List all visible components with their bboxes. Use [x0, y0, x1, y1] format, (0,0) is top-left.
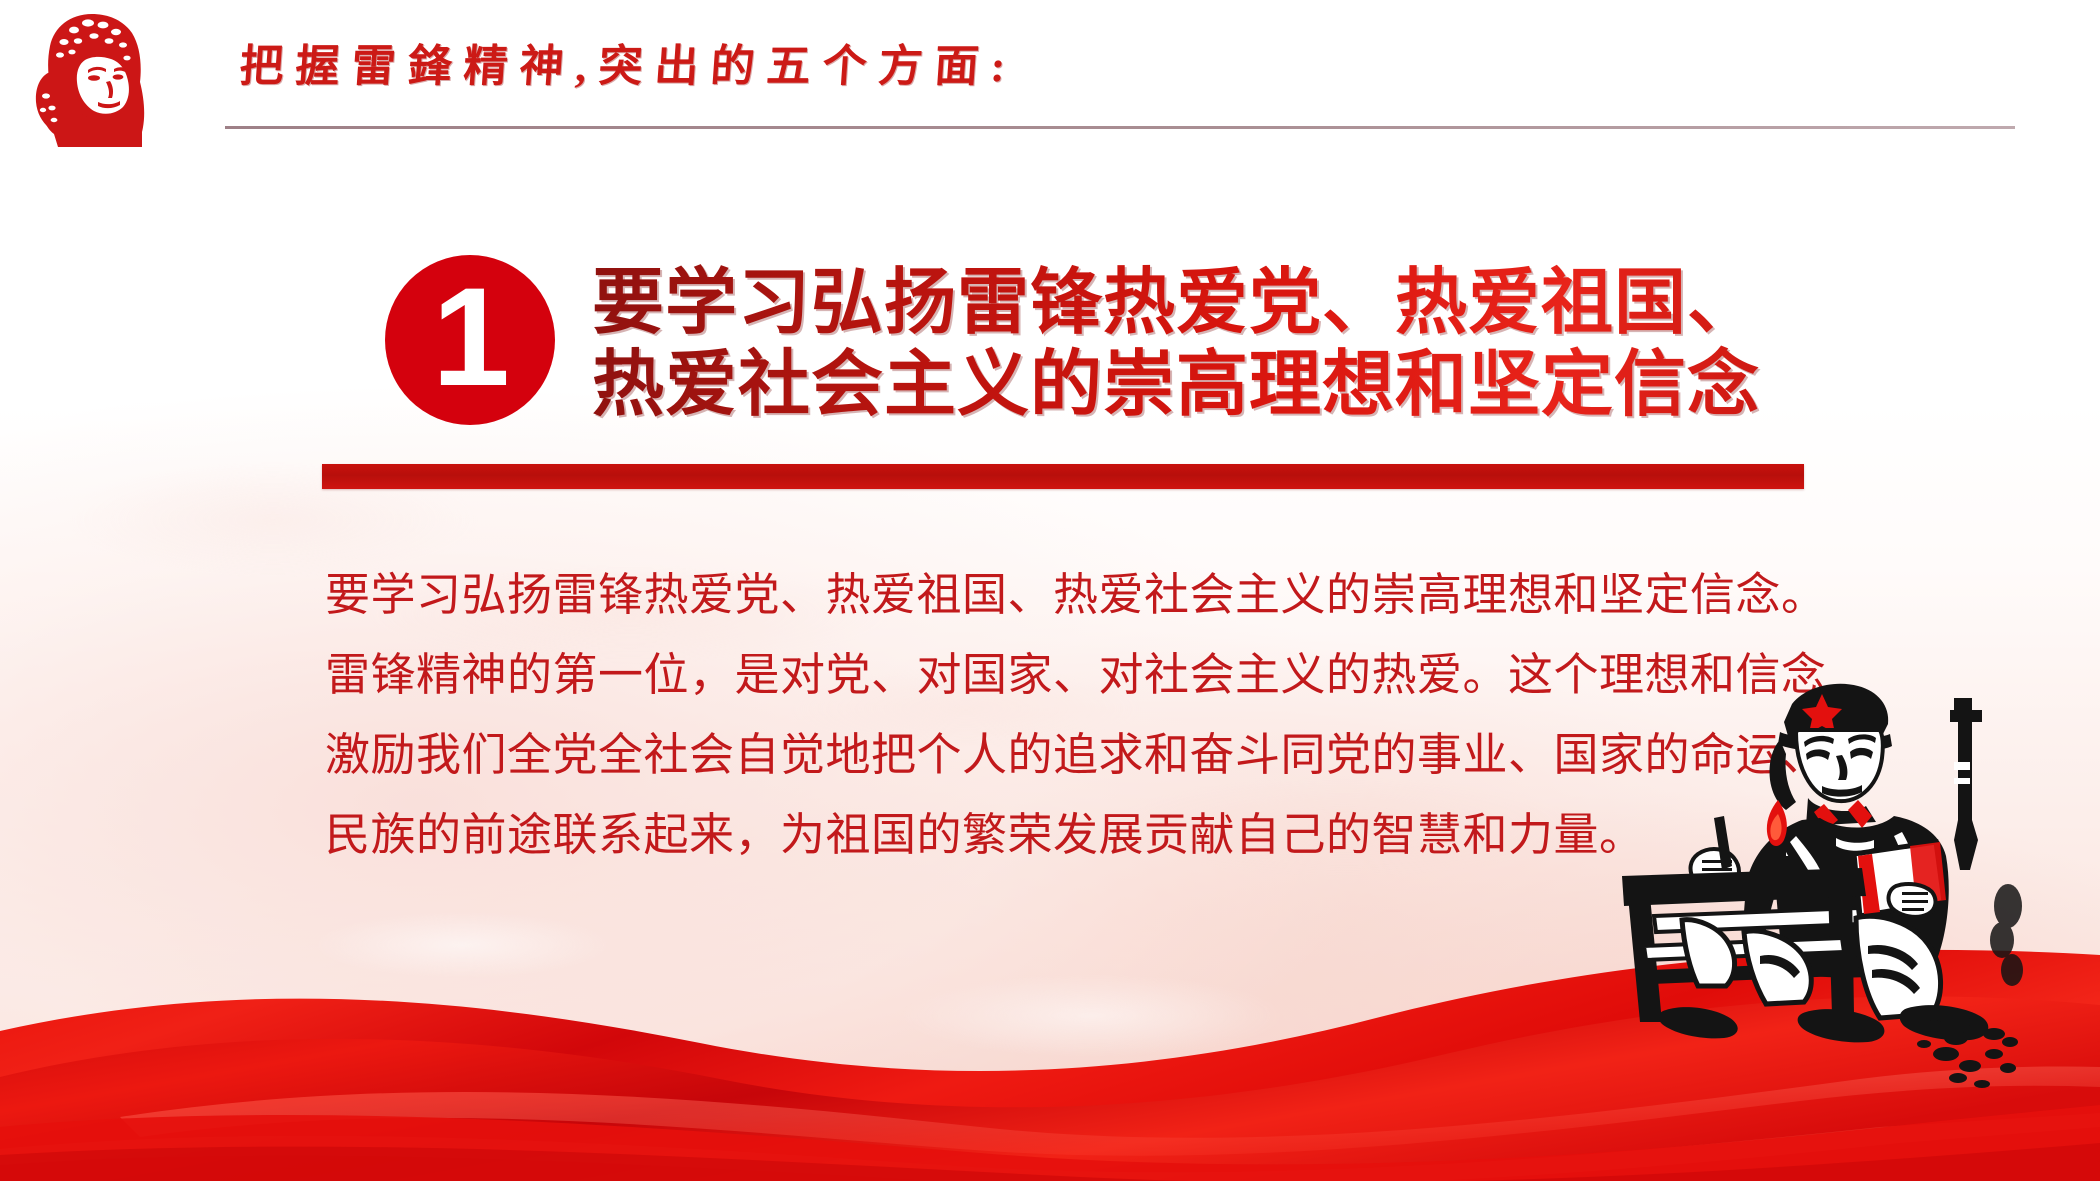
lei-feng-reading-at-desk-illustration — [1610, 670, 2040, 1110]
body-paragraph: 要学习弘扬雷锋热爱党、热爱祖国、热爱社会主义的崇高理想和坚定信念。 雷锋精神的第… — [325, 555, 1825, 875]
section-number-badge: 1 — [385, 255, 555, 425]
lei-feng-portrait-icon — [30, 12, 152, 147]
section-title: 要学习弘扬雷锋热爱党、热爱祖国、 热爱社会主义的崇高理想和坚定信念 — [592, 262, 1832, 426]
header-title: 把握雷鋒精神,突出的五个方面: — [238, 30, 1020, 94]
section-title-line-1: 要学习弘扬雷锋热爱党、热爱祖国、 — [592, 262, 1832, 344]
slide-header: 把握雷鋒精神,突出的五个方面: — [0, 0, 2100, 150]
body-line-3: 激励我们全党全社会自觉地把个人的追求和奋斗同党的事业、国家的命运、 — [325, 715, 1825, 795]
slide-canvas: 把握雷鋒精神,突出的五个方面: 1 要学习弘扬雷锋热爱党、热爱祖国、 热爱社会主… — [0, 0, 2100, 1181]
body-line-2: 雷锋精神的第一位，是对党、对国家、对社会主义的热爱。这个理想和信念 — [325, 635, 1825, 715]
body-line-4: 民族的前途联系起来，为祖国的繁荣发展贡献自己的智慧和力量。 — [325, 795, 1825, 875]
section-title-line-2: 热爱社会主义的崇高理想和坚定信念 — [592, 344, 1832, 426]
header-divider — [225, 126, 2015, 129]
section-number-label: 1 — [432, 267, 508, 407]
title-underline-bar — [322, 464, 1804, 489]
body-line-1: 要学习弘扬雷锋热爱党、热爱祖国、热爱社会主义的崇高理想和坚定信念。 — [325, 555, 1825, 635]
